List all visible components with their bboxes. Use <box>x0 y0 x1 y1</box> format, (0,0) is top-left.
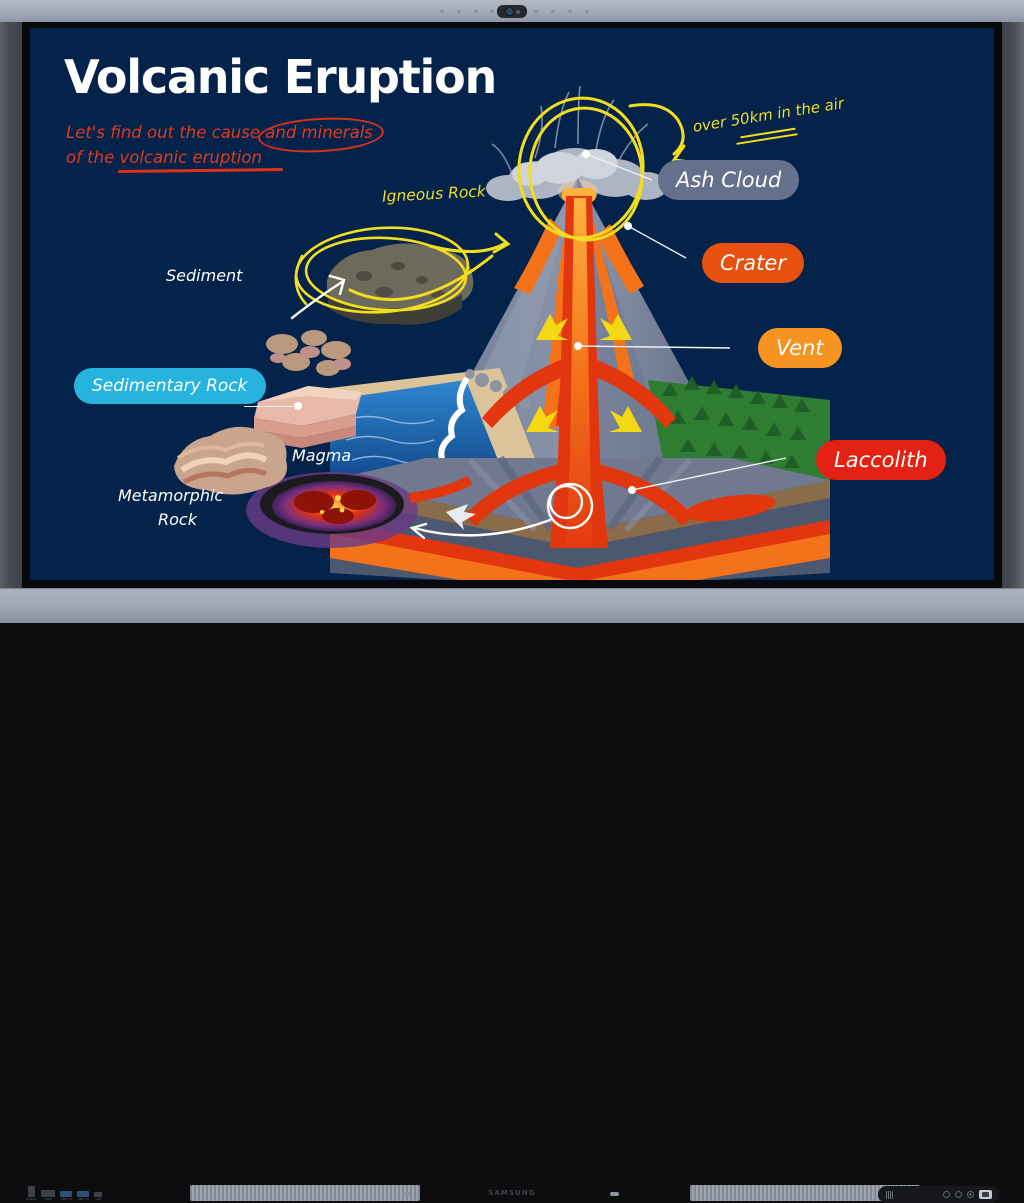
label-metamorphic-rock-line1: Metamorphic <box>118 486 223 505</box>
camera-lens-icon <box>506 8 513 15</box>
brand-logo: SAMSUNG <box>462 1189 562 1197</box>
bottom-bezel: POWER HDMI USB 3.0 USB 2.0 LAN SAMSUNG <box>0 588 1024 623</box>
label-magma: Magma <box>292 446 351 465</box>
volume-down-icon[interactable] <box>943 1191 950 1198</box>
sedimentary-leader-line <box>244 406 300 407</box>
label-vent[interactable]: Vent <box>758 328 842 368</box>
speaker-grille-left <box>190 1185 420 1201</box>
ir-receiver <box>402 1192 411 1196</box>
mic-hole <box>551 10 555 13</box>
camera-icon <box>497 5 527 18</box>
interactive-display: Volcanic Eruption Let's find out the cau… <box>0 0 1024 622</box>
right-bezel <box>1002 22 1024 588</box>
mic-hole <box>457 10 461 13</box>
ambient-sensor <box>610 1192 619 1196</box>
mic-hole <box>474 10 478 13</box>
volume-up-icon[interactable] <box>967 1191 974 1198</box>
label-laccolith[interactable]: Laccolith <box>816 440 946 480</box>
page-title: Volcanic Eruption <box>64 50 496 104</box>
menu-icon[interactable] <box>886 1191 893 1199</box>
label-sedimentary-rock[interactable]: Sedimentary Rock <box>74 368 266 404</box>
volume-mute-icon[interactable] <box>955 1191 962 1198</box>
label-ash-cloud[interactable]: Ash Cloud <box>658 160 799 200</box>
label-crater[interactable]: Crater <box>702 243 804 283</box>
hdmi-port[interactable]: HDMI <box>41 1190 55 1201</box>
top-bezel <box>0 0 1024 22</box>
usb-port-2[interactable]: USB 2.0 <box>77 1191 89 1201</box>
usb-port-1[interactable]: USB 3.0 <box>60 1191 72 1201</box>
control-panel[interactable] <box>878 1186 1000 1203</box>
mic-hole <box>585 10 589 13</box>
mic-hole <box>490 10 494 13</box>
mic-hole <box>440 10 444 13</box>
label-sediment: Sediment <box>166 266 242 285</box>
camera-sensor-icon <box>516 10 520 14</box>
mic-hole <box>534 10 538 13</box>
air-height-annotation: over 50km in the air <box>692 94 846 136</box>
power-port[interactable]: POWER <box>26 1186 36 1201</box>
left-bezel <box>0 22 22 588</box>
label-metamorphic-rock-line2: Rock <box>158 510 197 529</box>
igneous-rock-annotation: Igneous Rock <box>382 182 487 205</box>
port-panel: POWER HDMI USB 3.0 USB 2.0 LAN <box>26 1186 102 1201</box>
mic-hole <box>568 10 572 13</box>
screen-content: Volcanic Eruption Let's find out the cau… <box>30 28 994 580</box>
rj45-port[interactable]: LAN <box>94 1192 102 1201</box>
slide-volcanic-eruption: Volcanic Eruption Let's find out the cau… <box>30 28 994 580</box>
power-button-icon[interactable] <box>979 1190 992 1199</box>
